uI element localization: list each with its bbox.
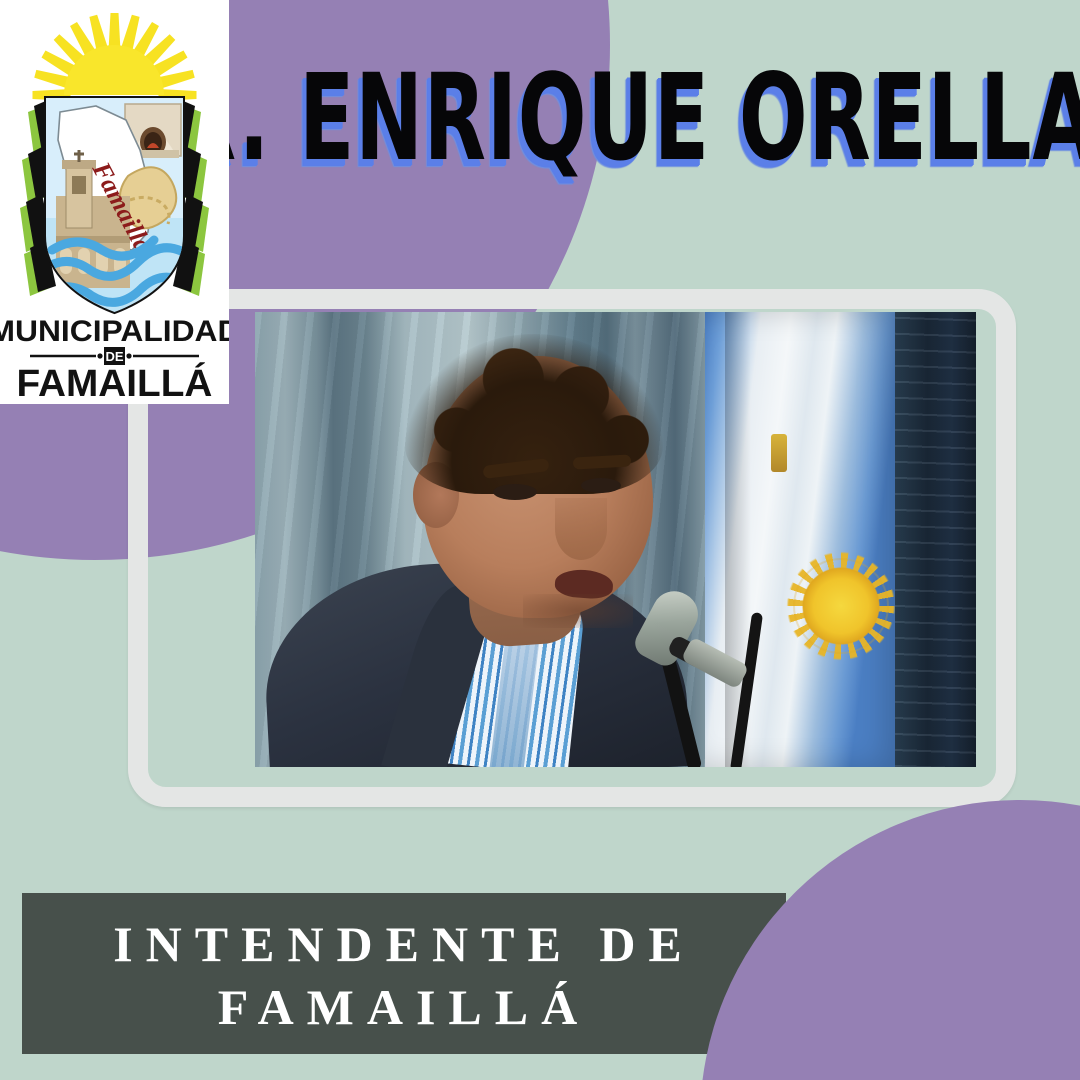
eye-right <box>581 478 621 493</box>
role-banner: INTENDENTE DE FAMAILLÁ <box>22 893 786 1054</box>
role-line-2: FAMAILLÁ <box>218 976 591 1039</box>
title-container: DR. ENRIQUE ORELLANA <box>262 57 1072 183</box>
chin-shadow <box>523 594 633 628</box>
flag-clip <box>771 434 787 472</box>
municipality-crest-logo: Famaillá MUNICIPALIDAD <box>0 0 229 404</box>
nose <box>555 498 607 560</box>
eye-left <box>493 484 537 500</box>
decorative-purple-blob-bottom <box>700 800 1080 1080</box>
logo-org-line-2: FAMAILLÁ <box>16 361 212 404</box>
role-line-1: INTENDENTE DE <box>113 913 695 976</box>
dark-panel-slats <box>895 312 976 767</box>
page-title: DR. ENRIQUE ORELLANA <box>106 63 1080 177</box>
flag-sun-icon <box>795 560 887 652</box>
crest-shield-icon: Famaillá <box>46 98 183 312</box>
speaker-photo <box>255 312 976 767</box>
poster-canvas: INTENDENTE DE FAMAILLÁ DR. ENRIQUE ORELL… <box>0 0 1080 1080</box>
municipality-logo-card: Famaillá MUNICIPALIDAD <box>0 0 229 404</box>
logo-org-line-1: MUNICIPALIDAD <box>0 314 229 348</box>
